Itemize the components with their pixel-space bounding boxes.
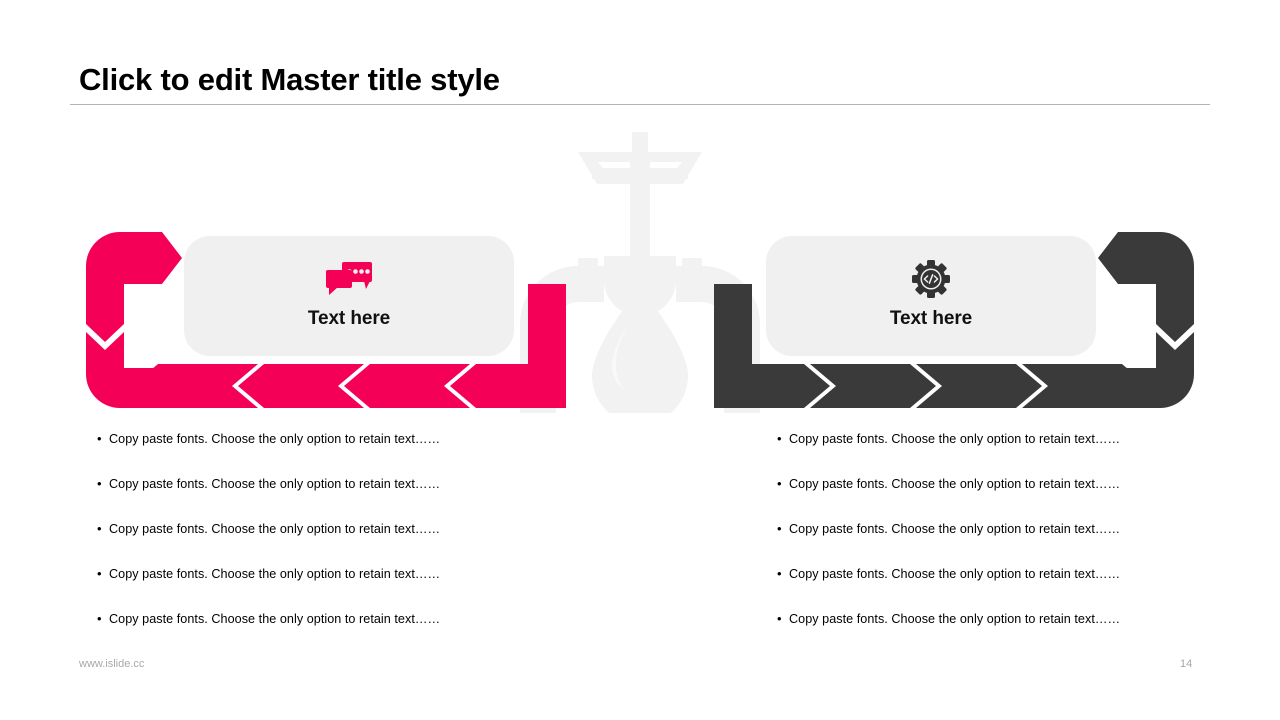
bullet-marker: •: [95, 565, 109, 583]
list-item: • Copy paste fonts. Choose the only opti…: [95, 475, 565, 520]
bullet-text: Copy paste fonts. Choose the only option…: [109, 610, 440, 628]
gear-code-icon: [912, 262, 950, 296]
bullet-list-left: • Copy paste fonts. Choose the only opti…: [95, 430, 565, 655]
list-item: • Copy paste fonts. Choose the only opti…: [775, 475, 1245, 520]
bullet-marker: •: [95, 520, 109, 538]
title-divider: [70, 104, 1210, 105]
slide-canvas: Click to edit Master title style: [0, 0, 1280, 720]
bullet-marker: •: [775, 430, 789, 448]
bullet-marker: •: [95, 475, 109, 493]
list-item: • Copy paste fonts. Choose the only opti…: [775, 565, 1245, 610]
list-item: • Copy paste fonts. Choose the only opti…: [775, 430, 1245, 475]
panel-label-left: Text here: [308, 308, 390, 330]
content-panel-right[interactable]: Text here: [766, 236, 1096, 356]
list-item: • Copy paste fonts. Choose the only opti…: [95, 565, 565, 610]
bullet-list-right: • Copy paste fonts. Choose the only opti…: [775, 430, 1245, 655]
arrow-segment-top-left: [86, 232, 182, 342]
bullet-text: Copy paste fonts. Choose the only option…: [109, 520, 440, 538]
chat-bubbles-icon: [326, 262, 372, 296]
list-item: • Copy paste fonts. Choose the only opti…: [775, 610, 1245, 655]
bullet-text: Copy paste fonts. Choose the only option…: [789, 475, 1120, 493]
bullet-marker: •: [775, 520, 789, 538]
bullet-text: Copy paste fonts. Choose the only option…: [789, 430, 1120, 448]
panel-label-right: Text here: [890, 308, 972, 330]
list-item: • Copy paste fonts. Choose the only opti…: [95, 430, 565, 475]
bullet-text: Copy paste fonts. Choose the only option…: [109, 430, 440, 448]
arrow-segment-top-right: [1098, 232, 1194, 342]
bullet-marker: •: [95, 430, 109, 448]
bullet-marker: •: [775, 565, 789, 583]
list-item: • Copy paste fonts. Choose the only opti…: [775, 520, 1245, 565]
footer-url[interactable]: www.islide.cc: [79, 658, 144, 670]
bullet-marker: •: [95, 610, 109, 628]
bullet-marker: •: [775, 610, 789, 628]
list-item: • Copy paste fonts. Choose the only opti…: [95, 610, 565, 655]
bullet-marker: •: [775, 475, 789, 493]
bullet-text: Copy paste fonts. Choose the only option…: [109, 565, 440, 583]
content-panel-left[interactable]: Text here: [184, 236, 514, 356]
bullet-text: Copy paste fonts. Choose the only option…: [109, 475, 440, 493]
bullet-text: Copy paste fonts. Choose the only option…: [789, 610, 1120, 628]
page-title: Click to edit Master title style: [79, 62, 500, 98]
bullet-text: Copy paste fonts. Choose the only option…: [789, 565, 1120, 583]
list-item: • Copy paste fonts. Choose the only opti…: [95, 520, 565, 565]
footer-page-number: 14: [1180, 658, 1192, 670]
bullet-text: Copy paste fonts. Choose the only option…: [789, 520, 1120, 538]
